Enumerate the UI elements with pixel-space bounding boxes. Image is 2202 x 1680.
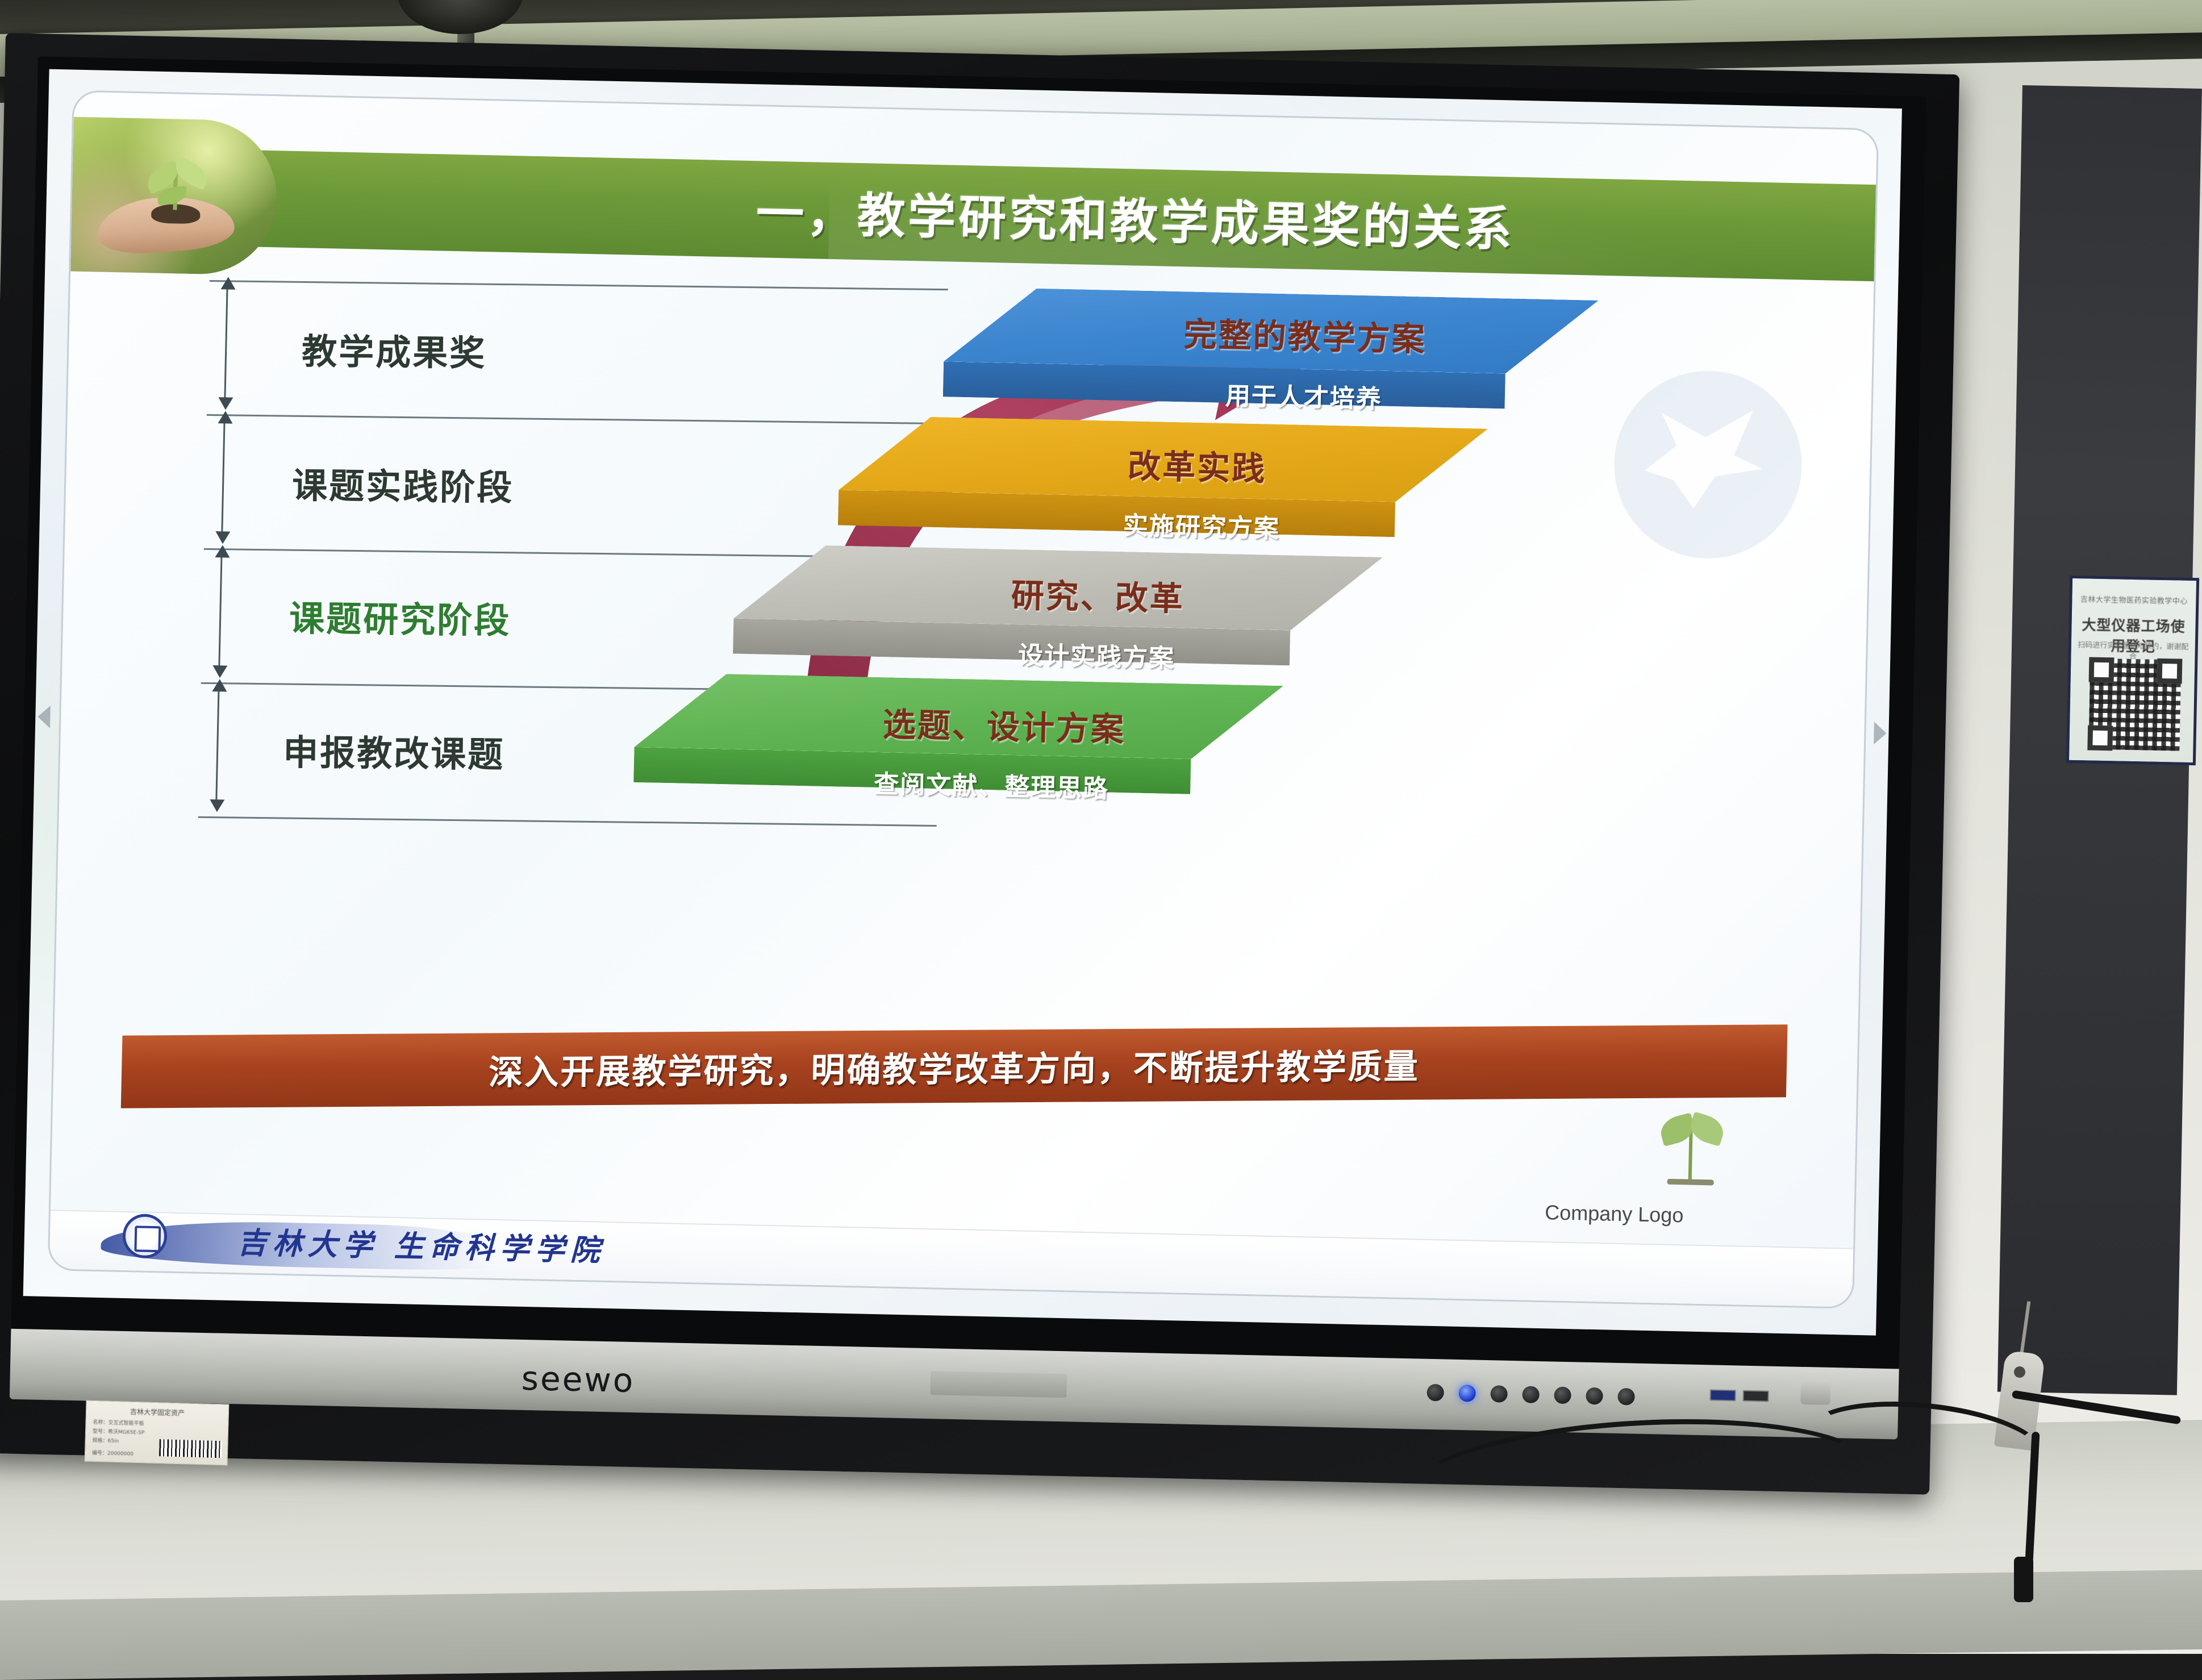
scroll-right-icon[interactable]	[1874, 722, 1887, 744]
asset-tag: 吉林大学固定资产 名称：交互式智能平板 型号：希沃MG65E-SP 规格：65i…	[85, 1400, 230, 1466]
scroll-left-icon[interactable]	[37, 705, 51, 728]
slide-title: 一，教学研究和教学成果奖的关系	[435, 154, 1836, 280]
step-block-blue: 完整的教学方案 用于人才培养	[944, 286, 1599, 375]
led-indicator-7[interactable]	[1617, 1388, 1635, 1406]
seedling-photo-icon	[70, 117, 278, 276]
step-block-green: 选题、设计方案 查阅文献、整理思路	[634, 672, 1283, 761]
asset-tag-line-4: 编号：20000000	[92, 1449, 134, 1457]
arrow-down-icon	[210, 799, 224, 812]
step-block-gold: 改革实践 实施研究方案	[839, 415, 1488, 503]
arrow-down-icon	[212, 665, 227, 678]
port-cluster[interactable]	[1709, 1385, 1778, 1406]
led-indicator-2[interactable]	[1458, 1385, 1476, 1402]
presentation-slide: 一，教学研究和教学成果奖的关系	[48, 90, 1879, 1309]
led-indicator-6[interactable]	[1586, 1387, 1603, 1405]
classroom-wall: 吉林大学生物医药实验教学中心 大型仪器工场使用登记 扫码进行实验登记与预约，谢谢…	[0, 0, 2202, 1654]
arrow-up-icon	[220, 277, 235, 290]
stage-label-award: 教学成果奖	[302, 323, 487, 376]
arrow-down-icon	[215, 531, 230, 544]
sprout-decoration-icon	[1656, 1107, 1726, 1182]
barcode-icon	[159, 1439, 222, 1458]
qr-card-line1: 吉林大学生物医药实验教学中心	[2078, 593, 2190, 606]
measure-line	[218, 553, 222, 670]
stair-step-diagram: 教学成果奖 课题实践阶段 课题研究阶段 申报教改课题	[56, 262, 1874, 1016]
stage-label-apply: 申报教改课题	[283, 724, 505, 777]
brand-logo: seewo	[521, 1359, 635, 1400]
qr-notice-card: 吉林大学生物医药实验教学中心 大型仪器工场使用登记 扫码进行实验登记与预约，谢谢…	[2066, 576, 2199, 765]
step-green-subtitle: 查阅文献、整理思路	[668, 759, 1316, 809]
step-block-gray: 研究、改革 设计实践方案	[733, 544, 1383, 632]
asset-tag-line-2: 型号：希沃MG65E-SP	[93, 1427, 145, 1436]
arrow-up-icon	[215, 545, 230, 558]
asset-tag-line-1: 名称：交互式智能平板	[93, 1418, 144, 1427]
grid-line	[198, 816, 937, 827]
arrow-up-icon	[218, 411, 232, 424]
arrow-down-icon	[218, 397, 233, 410]
interactive-display[interactable]: 一，教学研究和教学成果奖的关系	[0, 33, 1959, 1495]
measure-line	[215, 687, 219, 804]
arrow-up-icon	[212, 679, 227, 692]
led-indicator-3[interactable]	[1490, 1385, 1508, 1403]
display-screen[interactable]: 一，教学研究和教学成果奖的关系	[23, 69, 1902, 1336]
key-lock-icon[interactable]	[1800, 1379, 1830, 1405]
asset-tag-line-3: 规格：65in	[92, 1436, 119, 1444]
asset-tag-title: 吉林大学固定资产	[86, 1406, 228, 1419]
measure-line	[224, 285, 228, 402]
summary-banner-text: 深入开展教学研究，明确教学改革方向，不断提升教学质量	[121, 1024, 1788, 1108]
led-indicator-5[interactable]	[1554, 1387, 1571, 1404]
company-logo-placeholder: Company Logo	[1545, 1200, 1684, 1227]
led-indicator-4[interactable]	[1522, 1386, 1540, 1403]
footer-institution: 吉林大学 生命科学学院	[237, 1219, 606, 1269]
usb-port-icon[interactable]	[1709, 1389, 1736, 1401]
stage-label-research: 课题研究阶段	[289, 590, 511, 643]
led-indicator-1[interactable]	[1427, 1384, 1444, 1402]
stage-label-practice: 课题实践阶段	[292, 457, 514, 510]
cable-plug	[2014, 1557, 2033, 1602]
qr-code-icon	[2088, 658, 2181, 751]
speaker-vent	[930, 1371, 1067, 1398]
slide-title-bar: 一，教学研究和教学成果奖的关系	[71, 147, 1876, 282]
measure-line	[221, 419, 225, 536]
grid-line	[210, 280, 948, 290]
hdmi-port-icon[interactable]	[1742, 1390, 1769, 1402]
led-indicator-panel[interactable]	[1421, 1374, 1694, 1417]
